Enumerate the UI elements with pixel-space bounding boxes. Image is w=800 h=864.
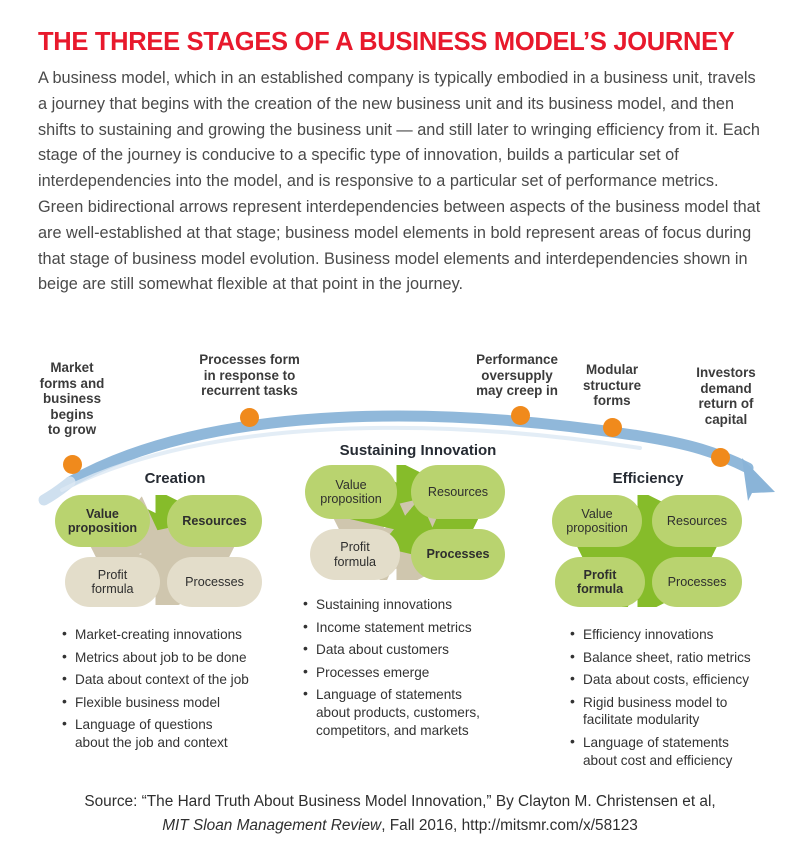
list-item: Balance sheet, ratio metrics <box>570 649 795 667</box>
node-processes: Processes <box>652 557 742 607</box>
milestone-dot-0 <box>63 455 82 474</box>
efficiency-bubble-cluster: Value proposition Resources Profit formu… <box>552 495 742 607</box>
node-value-proposition: Value proposition <box>55 495 150 547</box>
stage-title-creation: Creation <box>110 470 240 487</box>
source-line-2: MIT Sloan Management Review, Fall 2016, … <box>0 814 800 838</box>
list-item: Data about customers <box>303 641 538 659</box>
milestone-dot-2 <box>511 406 530 425</box>
source-citation: Source: “The Hard Truth About Business M… <box>0 790 800 838</box>
infographic-page: THE THREE STAGES OF A BUSINESS MODEL’S J… <box>0 0 800 864</box>
list-item: Metrics about job to be done <box>62 649 287 667</box>
list-item: Language of questions about the job and … <box>62 716 287 751</box>
milestone-dot-1 <box>240 408 259 427</box>
source-line-1: Source: “The Hard Truth About Business M… <box>0 790 800 814</box>
milestone-dot-3 <box>603 418 622 437</box>
milestone-label-0: Market forms and business begins to grow <box>22 360 122 438</box>
list-item: Efficiency innovations <box>570 626 795 644</box>
efficiency-bullet-list: Efficiency innovations Balance sheet, ra… <box>570 626 795 774</box>
node-profit-formula: Profit formula <box>65 557 160 607</box>
journey-diagram: Market forms and business begins to grow… <box>0 340 800 785</box>
list-item: Language of statements about products, c… <box>303 686 538 739</box>
node-resources: Resources <box>167 495 262 547</box>
list-item: Market-creating innovations <box>62 626 287 644</box>
node-resources: Resources <box>411 465 505 519</box>
list-item: Data about context of the job <box>62 671 287 689</box>
sustaining-bullet-list: Sustaining innovations Income statement … <box>303 596 538 744</box>
node-profit-formula: Profit formula <box>310 529 400 580</box>
list-item: Processes emerge <box>303 664 538 682</box>
list-item: Flexible business model <box>62 694 287 712</box>
node-profit-formula: Profit formula <box>555 557 645 607</box>
node-value-proposition: Value proposition <box>305 465 397 519</box>
milestone-label-3: Modular structure forms <box>560 362 664 409</box>
creation-bubble-cluster: Value proposition Resources Profit formu… <box>55 495 270 605</box>
milestone-dot-4 <box>711 448 730 467</box>
source-line-2-rest: , Fall 2016, http://mitsmr.com/x/58123 <box>381 817 638 834</box>
list-item: Language of statements about cost and ef… <box>570 734 795 769</box>
milestone-label-4: Investors demand return of capital <box>676 365 776 427</box>
stage-title-efficiency: Efficiency <box>578 470 718 487</box>
source-publication: MIT Sloan Management Review <box>162 817 381 834</box>
stage-title-sustaining: Sustaining Innovation <box>318 442 518 459</box>
node-processes: Processes <box>411 529 505 580</box>
list-item: Rigid business model to facilitate modul… <box>570 694 795 729</box>
list-item: Income statement metrics <box>303 619 538 637</box>
milestone-label-1: Processes form in response to recurrent … <box>182 352 317 399</box>
list-item: Data about costs, efficiency <box>570 671 795 689</box>
node-value-proposition: Value proposition <box>552 495 642 547</box>
intro-paragraph: A business model, which in an establishe… <box>38 66 764 298</box>
list-item: Sustaining innovations <box>303 596 538 614</box>
page-title: THE THREE STAGES OF A BUSINESS MODEL’S J… <box>38 29 768 56</box>
creation-bullet-list: Market-creating innovations Metrics abou… <box>62 626 287 757</box>
node-processes: Processes <box>167 557 262 607</box>
node-resources: Resources <box>652 495 742 547</box>
sustaining-bubble-cluster: Value proposition Resources Profit formu… <box>305 465 505 580</box>
